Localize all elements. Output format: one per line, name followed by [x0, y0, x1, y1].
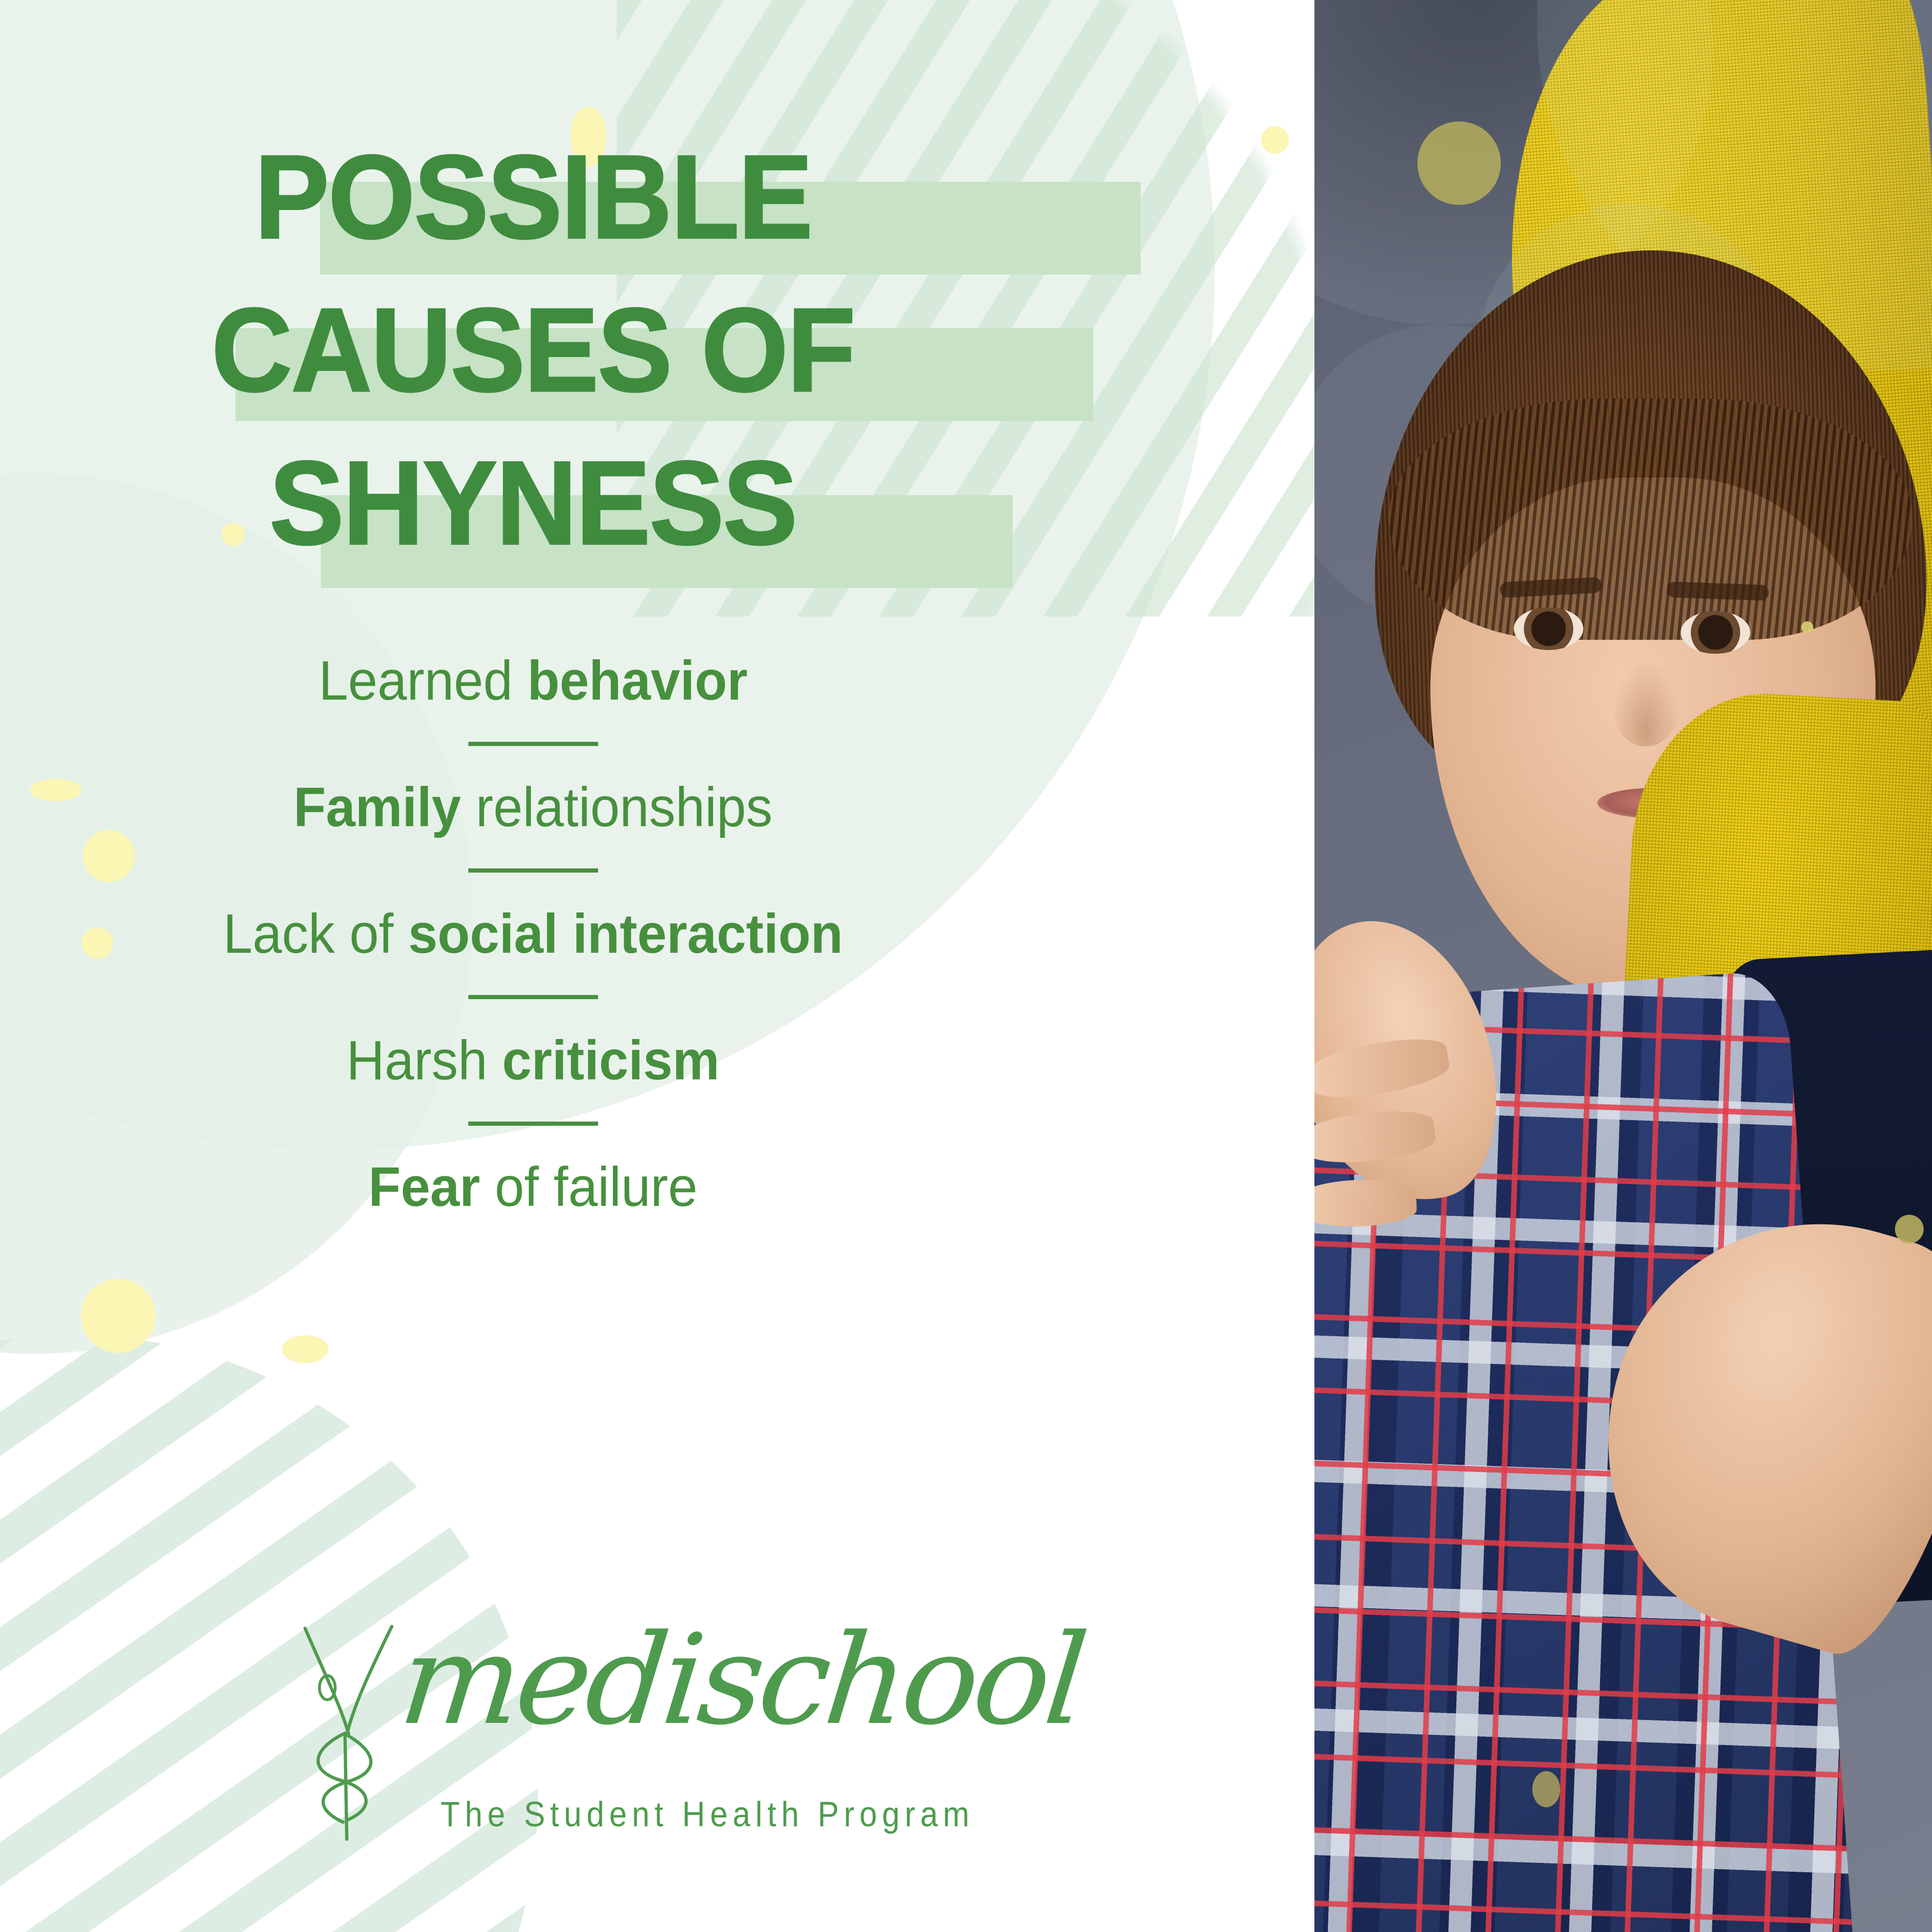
accent-dot-icon — [1417, 121, 1501, 205]
content-panel: POSSIBLE CAUSES OF SHYNESS Learned behav… — [0, 0, 1314, 1932]
accent-dot-icon — [1261, 126, 1289, 154]
adult-hand — [1314, 899, 1523, 1224]
adult-finger — [1314, 1178, 1417, 1229]
child-fringe — [1389, 399, 1913, 640]
title-line-2: CAUSES OF — [0, 274, 1066, 427]
child-forearm — [1561, 1174, 1932, 1673]
photo-wall-background — [1314, 0, 1932, 1932]
cause-item: Learned behavior — [319, 650, 747, 711]
photo-wall-shadow — [1314, 0, 1871, 343]
cause-divider — [468, 742, 598, 746]
cause-emphasis: Fear — [369, 1156, 480, 1218]
adult-finger — [1314, 1032, 1452, 1105]
title-text-3: SHYNESS — [270, 444, 797, 562]
cause-divider — [468, 1122, 598, 1126]
child-eyebrow-left — [1499, 577, 1602, 598]
cause-item: Lack of social interaction — [223, 903, 843, 964]
child-dark-vest — [1715, 950, 1932, 1609]
logo-wordmark: medischool — [395, 1618, 1089, 1742]
title-line-1: POSSIBLE — [0, 121, 1066, 274]
cause-item: Family relationships — [294, 777, 773, 838]
poster-canvas: POSSIBLE CAUSES OF SHYNESS Learned behav… — [0, 0, 1932, 1932]
cause-list: Learned behavior Family relationships La… — [0, 649, 1066, 1218]
title-text-1: POSSIBLE — [255, 138, 812, 256]
adult-finger — [1314, 1106, 1437, 1168]
child-mouth — [1597, 788, 1704, 818]
logo-tagline: The Student Health Program — [440, 1794, 974, 1835]
cause-emphasis: criticism — [502, 1029, 720, 1091]
accent-dot-icon — [1895, 1215, 1924, 1243]
cause-plain-after: relationships — [461, 776, 773, 838]
cause-emphasis: Family — [294, 776, 461, 838]
child-face — [1430, 478, 1875, 1001]
yellow-knit-blanket — [1491, 0, 1932, 1200]
photo-panel — [1314, 0, 1932, 1932]
cause-plain-before: Lack of — [223, 903, 408, 965]
cause-divider — [468, 868, 598, 873]
cause-divider — [468, 995, 598, 999]
cause-plain-after: of failure — [480, 1156, 698, 1218]
cause-item: Fear of failure — [369, 1156, 698, 1218]
page-title: POSSIBLE CAUSES OF SHYNESS — [0, 121, 1066, 580]
accent-dot-icon — [81, 1279, 155, 1353]
overlay-bubble-icon — [1537, 0, 1932, 371]
child-eye-left — [1514, 607, 1583, 650]
cause-plain-before: Harsh — [347, 1029, 503, 1091]
overlay-bubble-icon — [1314, 0, 1713, 325]
cause-plain-before: Learned — [319, 650, 527, 712]
cause-emphasis: behavior — [527, 650, 747, 712]
accent-dot-icon — [282, 1335, 328, 1363]
overlay-bubble-icon — [1314, 325, 1588, 621]
yellow-knit-blanket-lower — [1612, 687, 1932, 1237]
accent-dot-icon — [1532, 1771, 1560, 1807]
child-eye-right — [1681, 611, 1750, 654]
child-plaid-shirt — [1314, 969, 1853, 1932]
cause-emphasis: social interaction — [408, 903, 843, 965]
overlay-bubble-icon — [1477, 204, 1783, 510]
child-eyebrow-right — [1666, 581, 1769, 601]
title-line-3: SHYNESS — [0, 427, 1066, 580]
cause-item: Harsh criticism — [347, 1030, 720, 1091]
child-hair — [1375, 250, 1926, 788]
accent-dot-icon — [1801, 621, 1813, 633]
child-nose — [1611, 658, 1681, 746]
brand-logo: medischool The Student Health Program — [297, 1609, 992, 1868]
title-text-2: CAUSES OF — [212, 291, 855, 409]
